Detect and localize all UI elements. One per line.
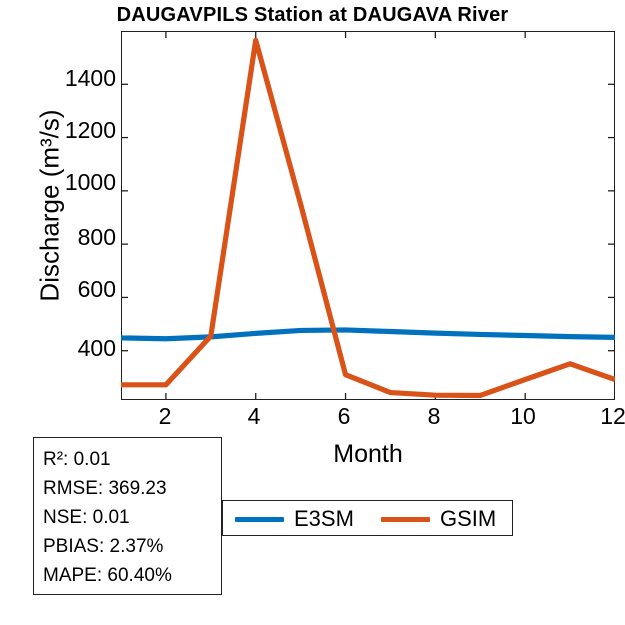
series-line-e3sm	[121, 330, 615, 339]
legend[interactable]: E3SM GSIM	[222, 500, 513, 536]
legend-item-e3sm[interactable]: E3SM	[235, 501, 354, 537]
legend-swatch-e3sm	[235, 517, 284, 522]
x-axis-label: Month	[258, 440, 478, 469]
x-tick-4: 4	[224, 404, 284, 428]
series-line-gsim	[121, 40, 615, 395]
stat-nse: NSE: 0.01	[43, 503, 221, 532]
statistics-box: R²: 0.01 RMSE: 369.23 NSE: 0.01 PBIAS: 2…	[33, 437, 222, 595]
stat-pbias: PBIAS: 2.37%	[43, 532, 221, 561]
y-axis-label: Discharge (m³/s)	[35, 46, 66, 366]
legend-item-gsim[interactable]: GSIM	[381, 501, 496, 537]
data-series-group	[121, 40, 615, 395]
stat-rmse: RMSE: 369.23	[43, 474, 221, 503]
x-tick-10: 10	[493, 404, 553, 428]
stat-r2: R²: 0.01	[43, 445, 221, 474]
x-tick-12: 12	[583, 404, 625, 428]
x-tick-2: 2	[135, 404, 195, 428]
legend-label-gsim: GSIM	[440, 508, 496, 530]
figure-canvas: DAUGAVPILS Station at DAUGAVA River 1400…	[0, 0, 625, 625]
legend-label-e3sm: E3SM	[294, 508, 354, 530]
axis-ticks	[121, 31, 615, 400]
x-tick-8: 8	[404, 404, 464, 428]
stat-mape: MAPE: 60.40%	[43, 561, 221, 590]
plot-svg	[121, 31, 615, 400]
x-tick-6: 6	[314, 404, 374, 428]
legend-swatch-gsim	[381, 517, 430, 522]
